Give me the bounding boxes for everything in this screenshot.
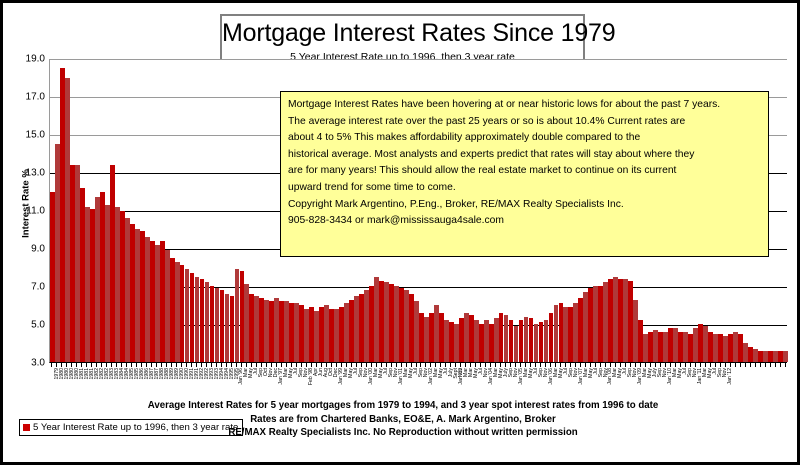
footer-line-3: RE/MAX Realty Specialists Inc. No Reprod…: [3, 426, 800, 440]
x-tick-mark: [595, 363, 596, 367]
x-tick-mark: [610, 363, 611, 367]
footer-line-2: Rates are from Chartered Banks, EO&E, A.…: [3, 413, 800, 427]
x-tick-mark: [101, 363, 102, 367]
x-tick-mark: [226, 363, 227, 367]
x-tick-mark: [425, 363, 426, 367]
x-tick-mark: [690, 363, 691, 367]
x-tick-mark: [386, 363, 387, 367]
x-tick-mark: [745, 363, 746, 367]
x-tick-mark: [171, 363, 172, 367]
x-tick-mark: [580, 363, 581, 367]
x-tick-label: Nov: [363, 368, 369, 402]
x-tick-mark: [495, 363, 496, 367]
x-tick-label: Nov: [483, 368, 489, 402]
x-tick-mark: [341, 363, 342, 367]
x-tick-label: Nov: [393, 368, 399, 402]
x-tick-mark: [141, 363, 142, 367]
x-tick-mark: [391, 363, 392, 367]
x-tick-mark: [450, 363, 451, 367]
x-tick-label: Nov: [513, 368, 519, 402]
x-tick-mark: [765, 363, 766, 367]
x-tick-mark: [525, 363, 526, 367]
x-tick-mark: [585, 363, 586, 367]
y-tick-label: 15.0: [5, 130, 45, 141]
x-tick-label: Nov: [722, 368, 728, 402]
x-tick-mark: [430, 363, 431, 367]
y-tick-label: 7.0: [5, 282, 45, 293]
x-tick-mark: [565, 363, 566, 367]
note-line: upward trend for some time to come.: [288, 180, 761, 197]
x-tick-label: Nov: [662, 368, 668, 402]
x-tick-mark: [246, 363, 247, 367]
x-tick-mark: [615, 363, 616, 367]
x-tick-mark: [66, 363, 67, 367]
x-tick-mark: [136, 363, 137, 367]
note-line: historical average. Most analysts and ex…: [288, 147, 761, 164]
x-tick-mark: [605, 363, 606, 367]
x-tick-mark: [445, 363, 446, 367]
x-tick-mark: [435, 363, 436, 367]
x-tick-mark: [236, 363, 237, 367]
x-tick-mark: [51, 363, 52, 367]
y-tick-label: 13.0: [5, 168, 45, 179]
x-tick-mark: [770, 363, 771, 367]
x-tick-mark: [371, 363, 372, 367]
x-tick-mark: [590, 363, 591, 367]
x-tick-mark: [216, 363, 217, 367]
x-tick-mark: [660, 363, 661, 367]
x-tick-mark: [650, 363, 651, 367]
x-tick-mark: [460, 363, 461, 367]
x-tick-mark: [600, 363, 601, 367]
x-tick-mark: [331, 363, 332, 367]
x-tick-mark: [515, 363, 516, 367]
x-tick-label: Nov: [543, 368, 549, 402]
x-tick-mark: [291, 363, 292, 367]
x-tick-label: Oct: [328, 368, 334, 402]
x-tick-mark: [440, 363, 441, 367]
x-tick-mark: [281, 363, 282, 367]
page-title: Mortgage Interest Rates Since 1979: [222, 16, 583, 50]
chart-frame: Mortgage Interest Rates Since 1979 5 Yea…: [0, 0, 800, 465]
x-tick-mark: [81, 363, 82, 367]
x-tick-mark: [276, 363, 277, 367]
x-tick-mark: [351, 363, 352, 367]
x-tick-mark: [480, 363, 481, 367]
x-tick-label: 1995: [234, 368, 240, 402]
x-tick-mark: [665, 363, 666, 367]
x-tick-mark: [720, 363, 721, 367]
x-tick-mark: [785, 363, 786, 367]
x-tick-mark: [201, 363, 202, 367]
x-tick-mark: [211, 363, 212, 367]
y-tick-label: 3.0: [5, 358, 45, 369]
x-tick-mark: [356, 363, 357, 367]
x-tick-mark: [261, 363, 262, 367]
x-tick-mark: [256, 363, 257, 367]
x-tick-mark: [296, 363, 297, 367]
note-line: Mortgage Interest Rates have been hoveri…: [288, 97, 761, 114]
x-tick-mark: [700, 363, 701, 367]
x-tick-mark: [361, 363, 362, 367]
x-tick-label: Jul: [443, 368, 449, 402]
bar: [783, 351, 788, 362]
x-tick-mark: [535, 363, 536, 367]
x-tick-label: Nov: [632, 368, 638, 402]
x-tick-mark: [61, 363, 62, 367]
x-tick-mark: [570, 363, 571, 367]
x-tick-mark: [420, 363, 421, 367]
x-tick-mark: [381, 363, 382, 367]
note-line: are for many years! This should allow th…: [288, 163, 761, 180]
x-tick-mark: [121, 363, 122, 367]
footer: Average Interest Rates for 5 year mortga…: [3, 399, 800, 440]
x-tick-mark: [151, 363, 152, 367]
x-tick-mark: [455, 363, 456, 367]
x-tick-mark: [485, 363, 486, 367]
x-tick-mark: [91, 363, 92, 367]
x-tick-mark: [191, 363, 192, 367]
x-tick-label: Jul: [293, 368, 299, 402]
x-tick-mark: [510, 363, 511, 367]
x-tick-mark: [76, 363, 77, 367]
x-tick-mark: [251, 363, 252, 367]
x-tick-mark: [465, 363, 466, 367]
annotation-note: Mortgage Interest Rates have been hoveri…: [280, 91, 769, 257]
x-tick-mark: [735, 363, 736, 367]
x-tick-mark: [475, 363, 476, 367]
x-tick-mark: [271, 363, 272, 367]
x-tick-mark: [206, 363, 207, 367]
x-tick-mark: [680, 363, 681, 367]
x-tick-label: Nov: [692, 368, 698, 402]
x-tick-mark: [625, 363, 626, 367]
x-tick-mark: [560, 363, 561, 367]
x-tick-label: Nov: [573, 368, 579, 402]
x-tick-mark: [401, 363, 402, 367]
x-tick-mark: [670, 363, 671, 367]
x-tick-mark: [196, 363, 197, 367]
note-line: about 4 to 5% This makes affordability a…: [288, 130, 761, 147]
note-line: Copyright Mark Argentino, P.Eng., Broker…: [288, 197, 761, 214]
x-tick-mark: [231, 363, 232, 367]
x-tick-mark: [620, 363, 621, 367]
x-tick-mark: [695, 363, 696, 367]
x-tick-mark: [176, 363, 177, 367]
x-tick-mark: [306, 363, 307, 367]
x-tick-mark: [780, 363, 781, 367]
y-tick-label: 17.0: [5, 92, 45, 103]
x-tick-mark: [301, 363, 302, 367]
x-tick-mark: [540, 363, 541, 367]
x-tick-mark: [520, 363, 521, 367]
x-tick-mark: [416, 363, 417, 367]
x-tick-mark: [131, 363, 132, 367]
x-tick-mark: [241, 363, 242, 367]
x-tick-label: Nov: [303, 368, 309, 402]
x-tick-mark: [106, 363, 107, 367]
x-tick-mark: [775, 363, 776, 367]
x-tick-label: Mar: [463, 368, 469, 402]
x-tick-mark: [640, 363, 641, 367]
x-tick-mark: [96, 363, 97, 367]
x-tick-mark: [396, 363, 397, 367]
x-tick-mark: [685, 363, 686, 367]
x-tick-mark: [266, 363, 267, 367]
x-tick-mark: [750, 363, 751, 367]
x-tick-mark: [221, 363, 222, 367]
x-tick-mark: [156, 363, 157, 367]
x-tick-mark: [376, 363, 377, 367]
x-tick-mark: [575, 363, 576, 367]
x-tick-mark: [500, 363, 501, 367]
x-tick-mark: [146, 363, 147, 367]
x-tick-mark: [635, 363, 636, 367]
x-tick-mark: [730, 363, 731, 367]
footer-line-1: Average Interest Rates for 5 year mortga…: [3, 399, 800, 413]
x-tick-mark: [166, 363, 167, 367]
x-tick-mark: [406, 363, 407, 367]
x-tick-mark: [336, 363, 337, 367]
y-tick-label: 11.0: [5, 206, 45, 217]
x-tick-label: Jul: [413, 368, 419, 402]
x-tick-label: Jan '12: [727, 368, 733, 402]
x-tick-mark: [71, 363, 72, 367]
x-tick-mark: [710, 363, 711, 367]
x-tick-mark: [326, 363, 327, 367]
x-tick-mark: [655, 363, 656, 367]
x-tick-mark: [286, 363, 287, 367]
x-tick-mark: [346, 363, 347, 367]
x-tick-mark: [111, 363, 112, 367]
x-tick-mark: [725, 363, 726, 367]
x-tick-mark: [186, 363, 187, 367]
y-tick-label: 5.0: [5, 320, 45, 331]
note-line: 905-828-3434 or mark@mississauga4sale.co…: [288, 213, 761, 230]
x-tick-mark: [530, 363, 531, 367]
x-tick-label: Jul: [253, 368, 259, 402]
x-axis: 19791980Jan '96SepOctJan '97MarSepFeb '9…: [49, 363, 787, 399]
x-tick-label: Nov: [603, 368, 609, 402]
x-tick-mark: [86, 363, 87, 367]
x-tick-mark: [321, 363, 322, 367]
x-tick-mark: [470, 363, 471, 367]
x-tick-mark: [116, 363, 117, 367]
x-tick-mark: [411, 363, 412, 367]
x-tick-mark: [505, 363, 506, 367]
x-tick-mark: [126, 363, 127, 367]
x-tick-mark: [56, 363, 57, 367]
x-tick-mark: [705, 363, 706, 367]
x-tick-label: Dec: [273, 368, 279, 402]
x-tick-mark: [760, 363, 761, 367]
x-tick-mark: [181, 363, 182, 367]
x-tick-mark: [630, 363, 631, 367]
x-tick-mark: [490, 363, 491, 367]
x-tick-mark: [740, 363, 741, 367]
x-tick-mark: [675, 363, 676, 367]
x-tick-mark: [715, 363, 716, 367]
x-tick-mark: [311, 363, 312, 367]
x-tick-mark: [645, 363, 646, 367]
x-tick-mark: [755, 363, 756, 367]
y-tick-label: 19.0: [5, 54, 45, 65]
x-tick-label: Nov: [423, 368, 429, 402]
y-tick-label: 9.0: [5, 244, 45, 255]
x-tick-mark: [161, 363, 162, 367]
x-tick-mark: [555, 363, 556, 367]
x-tick-mark: [550, 363, 551, 367]
note-line: The average interest rate over the past …: [288, 114, 761, 131]
x-tick-mark: [316, 363, 317, 367]
x-tick-mark: [366, 363, 367, 367]
x-tick-mark: [545, 363, 546, 367]
